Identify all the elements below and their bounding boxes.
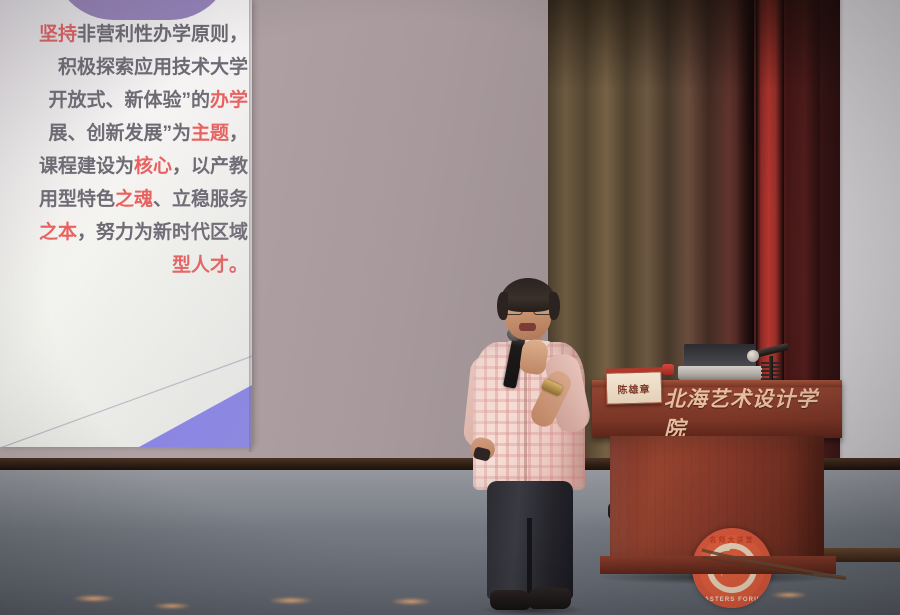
projection-screen: 坚持非营利性办学原则， 积极探索应用技术大学 开放式、新体验”的办学 展、创新发… <box>0 0 252 447</box>
speaker-person <box>465 278 595 615</box>
slide-diagonal-line <box>0 330 252 447</box>
slide-line-6: 用型特色之魂、立稳服务 <box>0 183 248 216</box>
floor-light-reflection <box>152 603 192 609</box>
slide-line-1: 坚持非营利性办学原则， <box>0 18 248 51</box>
emblem-english-text: MASTERS FORUM <box>692 597 772 603</box>
slide-line-2: 积极探索应用技术大学 <box>0 51 248 84</box>
red-object-on-podium <box>662 364 674 375</box>
venue-sign-text: 北海艺术设计学院 <box>664 396 836 430</box>
slide-purple-shape <box>52 0 232 20</box>
speaker-nameplate: 陈雄章 <box>606 371 663 404</box>
slide-line-4: 展、创新发展”为主题， <box>0 117 248 150</box>
speaker-hair <box>500 278 556 312</box>
laptop-screen <box>684 344 756 366</box>
podium-front-panel: 名师大讲堂 MASTERS FORUM <box>610 436 824 564</box>
emblem-chinese-text: 名师大讲堂 <box>692 535 772 545</box>
speaker-hair-right <box>549 292 560 320</box>
slide-line-7: 之本，努力为新时代区域 <box>0 216 248 249</box>
floor-light-reflection <box>390 598 432 605</box>
screen-edge <box>249 0 254 452</box>
lecture-hall-photo: 坚持非营利性办学原则， 积极探索应用技术大学 开放式、新体验”的办学 展、创新发… <box>0 0 900 615</box>
speaker-right-hand <box>519 338 549 375</box>
slide-text-block: 坚持非营利性办学原则， 积极探索应用技术大学 开放式、新体验”的办学 展、创新发… <box>0 18 252 282</box>
slide-line-5: 课程建设为核心，以产教 <box>0 150 248 183</box>
floor-light-reflection <box>72 595 116 602</box>
slide-line-8: 型人才。 <box>0 249 248 282</box>
microphone-windscreen <box>747 350 759 362</box>
curtain-top-shadow <box>548 0 840 90</box>
trouser-leg-gap <box>527 518 532 600</box>
podium-microphone-stand <box>747 342 793 384</box>
slide-line-3: 开放式、新体验”的办学 <box>0 84 248 117</box>
floor-cable <box>700 548 848 580</box>
speaker-right-shoe <box>527 588 571 609</box>
speaker-hair-left <box>497 292 508 320</box>
speaker-left-shoe <box>490 590 532 610</box>
floor-light-reflection <box>268 597 314 604</box>
nameplate-text: 陈雄章 <box>617 380 650 396</box>
speaker-mouth <box>519 323 536 331</box>
lectern-podium: 北海艺术设计学院 陈雄章 名师大讲堂 MASTERS FORUM <box>592 358 842 578</box>
floor-light-reflection <box>770 592 808 598</box>
shirt-placket <box>524 358 527 486</box>
